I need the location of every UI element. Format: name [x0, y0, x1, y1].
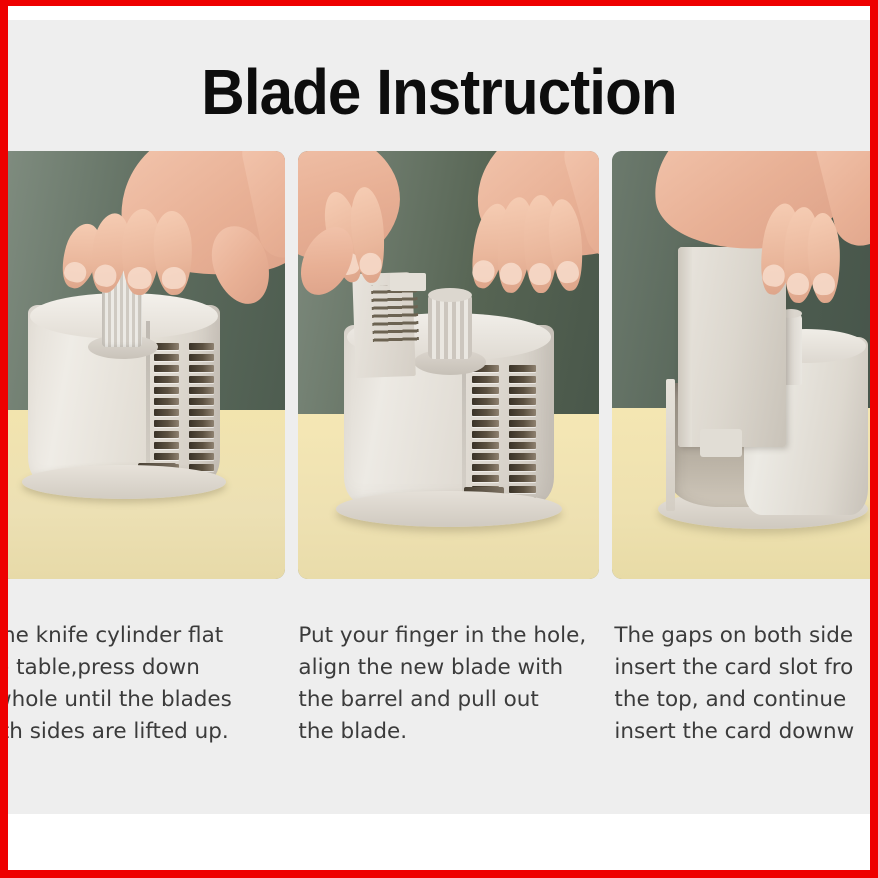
bottom-white-band: [8, 814, 870, 870]
step-photo-strip: [0, 151, 878, 579]
step-1-photo: [0, 151, 285, 579]
caption-line: align the new blade with: [298, 652, 591, 684]
step-2-photo: [298, 151, 599, 579]
caption-line: insert the card downw: [614, 716, 878, 748]
caption-line: y the knife cylinder flat: [0, 620, 277, 652]
blade-drum-device: [652, 271, 868, 531]
caption-line: a whole until the blades: [0, 684, 277, 716]
drum-base-rim: [336, 491, 562, 527]
caption-line: both sides are lifted up.: [0, 716, 277, 748]
cavity-left-rail: [666, 379, 675, 511]
blade-card-tab: [390, 273, 426, 291]
blade-card-tab: [700, 429, 742, 457]
drum-base-rim: [22, 465, 226, 499]
caption-line: The gaps on both side: [614, 620, 878, 652]
caption-line: the top, and continue: [614, 684, 878, 716]
product-listing-image: Blade Instruction: [0, 0, 878, 878]
top-white-band: [8, 6, 870, 20]
blade-slot-grid: [472, 365, 536, 504]
step-2-caption: Put your finger in the hole, align the n…: [290, 620, 591, 748]
blade-card-edge: [678, 247, 692, 447]
blade-slot-grid: [154, 343, 214, 482]
blade-drum-device: [344, 295, 554, 517]
drum-hub-top: [428, 288, 472, 302]
step-1-caption: y the knife cylinder flat the table,pres…: [0, 620, 277, 748]
caption-line: Put your finger in the hole,: [298, 620, 591, 652]
blade-drum-device: [28, 279, 220, 491]
caption-line: the table,press down: [0, 652, 277, 684]
page-title: Blade Instruction: [34, 56, 844, 128]
blade-card-teeth: [371, 284, 419, 344]
caption-line: the barrel and pull out: [298, 684, 591, 716]
step-captions: y the knife cylinder flat the table,pres…: [0, 620, 878, 748]
caption-line: insert the card slot fro: [614, 652, 878, 684]
instruction-sheet: Blade Instruction: [8, 20, 870, 814]
drum-hub: [428, 293, 472, 359]
step-3-photo: [612, 151, 878, 579]
step-3-caption: The gaps on both side insert the card sl…: [604, 620, 878, 748]
caption-line: the blade.: [298, 716, 591, 748]
